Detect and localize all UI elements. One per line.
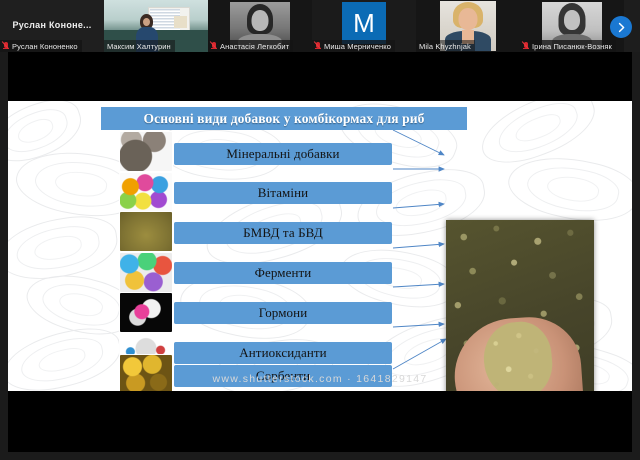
microphone-muted-icon [3,42,9,51]
list-item-bar[interactable]: Ферменти [174,262,392,284]
list-item-bar[interactable]: Вітаміни [174,182,392,204]
list-item-label: Ферменти [255,265,312,281]
hormone-molecule-image [120,293,172,332]
list-item-label: БМВД та БВД [243,225,323,241]
participant-nametag-2: Анастасія Легкобит [208,40,293,52]
participant-tile-3[interactable]: M Миша Мерниченко [312,0,416,52]
brown-powder-image [120,212,172,251]
presentation-slide: Основні види добавок у комбікормах для р… [8,101,632,391]
participant-tile-0[interactable]: Руслан Кононе... Руслан Кононенко [0,0,104,52]
list-item-label: Мінеральні добавки [226,146,339,162]
participant-name-1: Максим Халтурин [107,42,171,51]
list-item-label: Вітаміни [258,185,308,201]
microphone-muted-icon [315,42,321,51]
list-item: Мінеральні добавки [8,137,632,173]
microphone-muted-icon [211,42,217,51]
list-item: Ферменти [8,257,632,293]
participant-nametag-0: Руслан Кононенко [0,40,82,52]
next-participants-page-button[interactable] [610,16,632,38]
mineral-stones-image [120,132,172,171]
window-bottom-bar [0,452,640,460]
participant-tile-1[interactable]: Максим Халтурин [104,0,208,52]
participant-nametag-1: Максим Халтурин [104,40,175,52]
participant-tile-5[interactable]: Ірина Писанюк-Возняк [520,0,624,52]
list-item-bar[interactable]: БМВД та БВД [174,222,392,244]
participant-nametag-5: Ірина Писанюк-Возняк [520,40,616,52]
list-item: Гормони [8,297,632,333]
vitamin-pills-image [120,173,172,212]
microphone-muted-icon [523,42,529,51]
avatar: M [342,2,386,44]
participant-name-2: Анастасія Легкобит [220,42,289,51]
participant-filmstrip: Руслан Кононе... Руслан Кононенко Максим… [0,0,640,52]
shared-screen-area[interactable]: Основні види добавок у комбікормах для р… [8,52,632,452]
participant-nametag-4: Mila Khyzhnjak [416,40,475,52]
zoom-meeting-window: Руслан Кононе... Руслан Кононенко Максим… [0,0,640,460]
additive-list: Мінеральні добавки Вітаміни БМВД та БВД [8,101,632,391]
participant-name-3: Миша Мерниченко [324,42,391,51]
list-item-label: Гормони [259,305,308,321]
enzyme-crystals-image [120,253,172,292]
participant-tile-4[interactable]: Mila Khyzhnjak [416,0,520,52]
participant-name-0: Руслан Кононенко [12,42,78,51]
participant-nametag-3: Миша Мерниченко [312,40,395,52]
participant-name-4: Mila Khyzhnjak [419,42,471,51]
list-item-bar[interactable]: Гормони [174,302,392,324]
participant-name-placeholder-0: Руслан Кононе... [0,20,104,30]
list-item: Вітаміни [8,177,632,213]
participant-name-5: Ірина Писанюк-Возняк [532,42,612,51]
chevron-right-icon [616,22,627,33]
list-item: БМВД та БВД [8,217,632,253]
watermark: www.shutterstock.com · 1641829147 [8,373,632,385]
list-item-bar[interactable]: Антиоксиданти [174,342,392,364]
list-item-bar[interactable]: Мінеральні добавки [174,143,392,165]
list-item-label: Антиоксиданти [239,345,326,361]
participant-tile-2[interactable]: Анастасія Легкобит [208,0,312,52]
